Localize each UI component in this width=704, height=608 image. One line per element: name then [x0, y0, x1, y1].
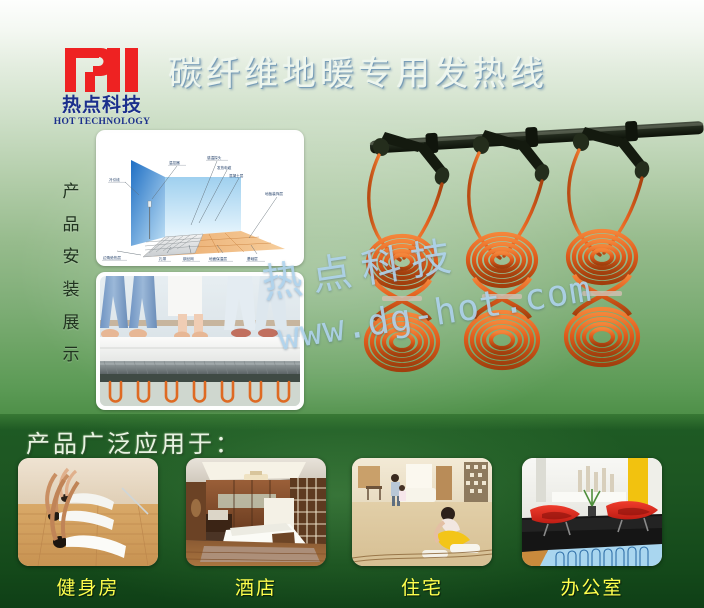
hotel-bedroom-interior-photo [186, 458, 326, 566]
floor-heating-structure-diagram: 冷引线 温控器 感温探头 发热电缆 混凝土层 地板装饰层 边角绝热层 扎带 钢丝… [96, 130, 304, 266]
svg-text:扎带: 扎带 [159, 256, 167, 261]
caption-char: 安 [58, 241, 84, 274]
gym-stretching-wood-floor-photo [18, 458, 158, 566]
application-label: 办公室 [522, 573, 662, 600]
svg-text:感温探头: 感温探头 [207, 155, 222, 160]
application-label: 健身房 [18, 573, 158, 600]
svg-text:边角绝热层: 边角绝热层 [103, 255, 121, 260]
application-card-residence[interactable]: 住宅 [352, 458, 492, 600]
caption-char: 装 [58, 274, 84, 307]
application-label: 住宅 [352, 573, 492, 600]
brand-name-en: HOT TECHNOLOGY [42, 117, 162, 127]
svg-text:发热电缆: 发热电缆 [217, 165, 232, 170]
product-poster: 热点科技 HOT TECHNOLOGY 碳纤维地暖专用发热线 产 品 安 装 展… [0, 0, 704, 608]
svg-text:地面保温层: 地面保温层 [209, 256, 227, 261]
bare-feet-on-heated-floor-photo [96, 272, 304, 410]
application-label: 酒店 [186, 573, 326, 600]
applications-row: 健身房 [0, 458, 704, 608]
hanging-heating-cable-coils [330, 110, 704, 418]
svg-text:冷引线: 冷引线 [109, 177, 120, 182]
photo-artwork [100, 276, 300, 406]
office-lounge-red-chairs-photo [522, 458, 662, 566]
application-card-office[interactable]: 办公室 [522, 458, 662, 600]
svg-text:钢丝网: 钢丝网 [183, 256, 194, 261]
residence-living-room-photo [352, 458, 492, 566]
caption-char: 产 [58, 176, 84, 209]
page-title: 碳纤维地暖专用发热线 [168, 46, 588, 95]
applications-heading: 产品广泛应用于： [26, 424, 242, 459]
caption-char: 示 [58, 339, 84, 372]
brand-logo: 热点科技 HOT TECHNOLOGY [42, 46, 162, 127]
brand-name-cn: 热点科技 [42, 96, 162, 116]
caption-char: 展 [58, 307, 84, 340]
svg-text:基础层: 基础层 [247, 256, 258, 261]
diagram-artwork: 冷引线 温控器 感温探头 发热电缆 混凝土层 地板装饰层 边角绝热层 扎带 钢丝… [99, 133, 301, 263]
application-card-hotel[interactable]: 酒店 [186, 458, 326, 600]
application-card-gym[interactable]: 健身房 [18, 458, 158, 600]
showcase-vertical-caption: 产 品 安 装 展 示 [58, 176, 84, 372]
svg-text:地板装饰层: 地板装饰层 [265, 191, 283, 196]
svg-text:混凝土层: 混凝土层 [229, 173, 244, 178]
pi-monogram-logo-icon [63, 46, 141, 94]
caption-char: 品 [58, 209, 84, 242]
svg-text:温控器: 温控器 [169, 160, 180, 165]
